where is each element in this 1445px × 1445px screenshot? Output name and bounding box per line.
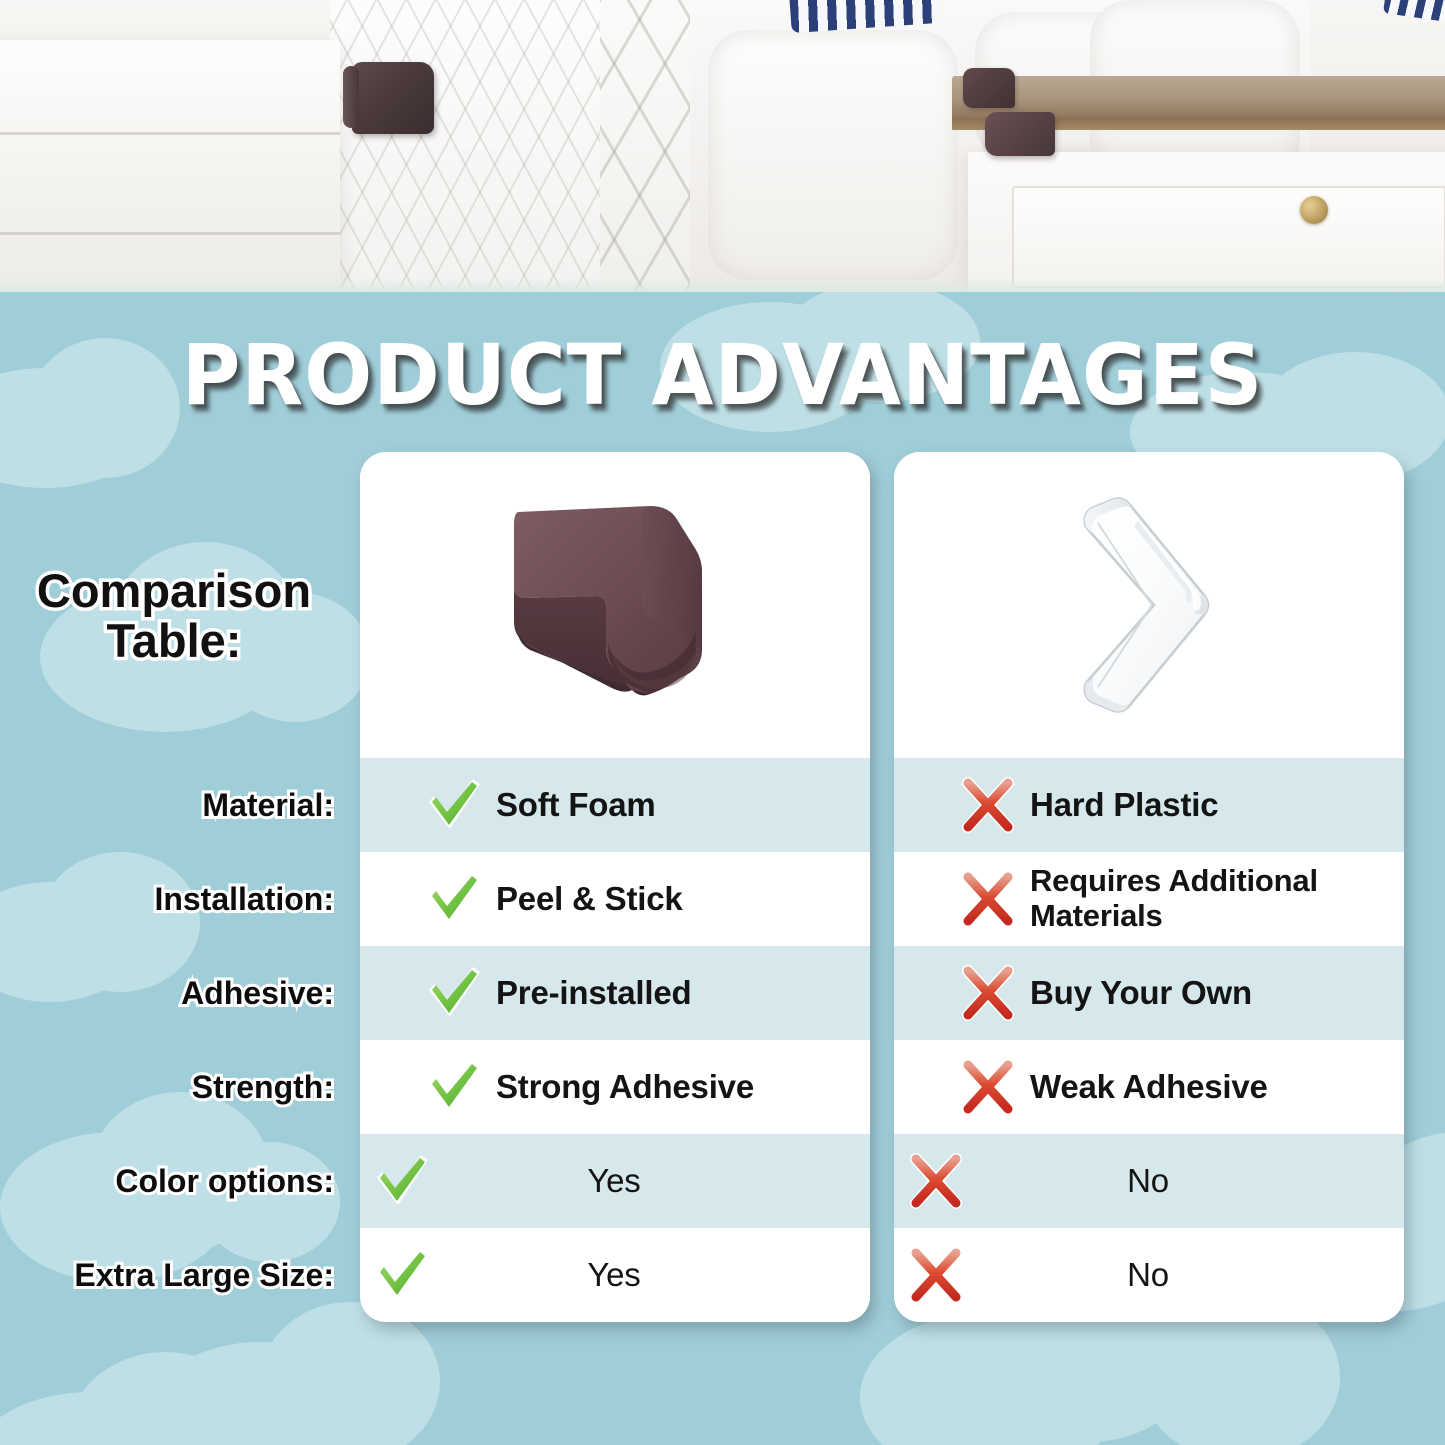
page-title: PRODUCT ADVANTAGES: [0, 326, 1445, 424]
feature-text: No: [978, 1163, 1404, 1200]
check-icon: [412, 774, 496, 836]
feature-text: Hard Plastic: [1030, 787, 1218, 824]
check-icon: [412, 962, 496, 1024]
feature-row: Buy Your Own: [894, 946, 1404, 1040]
feature-text: Soft Foam: [496, 787, 656, 824]
row-label-text: Installation:: [154, 881, 334, 918]
nightstand-drawer: [1012, 186, 1445, 288]
hero-photo: [0, 0, 1445, 292]
cross-icon: [946, 868, 1030, 930]
clear-plastic-corner-guard-icon: [1042, 493, 1257, 718]
row-label-installation: Installation:: [0, 852, 348, 946]
feature-row: Pre-installed: [360, 946, 870, 1040]
installed-corner-guard-left: [352, 62, 434, 134]
row-label-text: Adhesive:: [181, 975, 334, 1012]
white-dresser: [0, 40, 340, 292]
row-label-text: Material:: [202, 787, 334, 824]
feature-row: Soft Foam: [360, 758, 870, 852]
feature-row: No: [894, 1134, 1404, 1228]
row-label-strength: Strength:: [0, 1040, 348, 1134]
feature-text: Requires Additional Materials: [1030, 864, 1404, 933]
feature-row: No: [894, 1228, 1404, 1322]
feature-text: Yes: [444, 1257, 870, 1294]
feature-rows-plastic: Hard Plastic Requires Additional Materia…: [894, 758, 1404, 1322]
cross-icon: [946, 774, 1030, 836]
feature-text: Pre-installed: [496, 975, 691, 1012]
cross-icon: [894, 1244, 978, 1306]
feature-row: Requires Additional Materials: [894, 852, 1404, 946]
feature-text: Strong Adhesive: [496, 1069, 754, 1106]
feature-rows-foam: Soft Foam Peel & Stick P: [360, 758, 870, 1322]
cross-icon: [946, 1056, 1030, 1118]
row-label-adhesive: Adhesive:: [0, 946, 348, 1040]
comparison-table-heading: Comparison Table:: [0, 566, 348, 666]
infographic-root: PRODUCT ADVANTAGES Comparison Table: Mat…: [0, 0, 1445, 1445]
feature-text: Peel & Stick: [496, 881, 683, 918]
feature-text: Buy Your Own: [1030, 975, 1252, 1012]
row-label-text: Color options:: [115, 1163, 334, 1200]
patterned-textile-left: [330, 0, 630, 292]
row-label-material: Material:: [0, 758, 348, 852]
comparison-table-heading-line1: Comparison: [0, 566, 348, 616]
check-icon: [360, 1150, 444, 1212]
installed-corner-guard-upper: [963, 68, 1015, 108]
check-icon: [412, 1056, 496, 1118]
product-image-plastic: [894, 452, 1404, 758]
feature-row: Strong Adhesive: [360, 1040, 870, 1134]
row-label-text: Extra Large Size:: [74, 1257, 334, 1294]
check-icon: [412, 868, 496, 930]
feature-row: Weak Adhesive: [894, 1040, 1404, 1134]
drawer-knob: [1300, 196, 1328, 224]
installed-corner-guard-lower: [985, 112, 1055, 156]
comparison-card-foam: Soft Foam Peel & Stick P: [360, 452, 870, 1322]
row-label-extra-large-size: Extra Large Size:: [0, 1228, 348, 1322]
feature-text: No: [978, 1257, 1404, 1294]
check-icon: [360, 1244, 444, 1306]
hero-bottom-fade: [0, 278, 1445, 292]
row-label-color-options: Color options:: [0, 1134, 348, 1228]
feature-row: Yes: [360, 1228, 870, 1322]
feature-text: Weak Adhesive: [1030, 1069, 1268, 1106]
feature-text: Yes: [444, 1163, 870, 1200]
cross-icon: [894, 1150, 978, 1212]
row-label-text: Strength:: [192, 1069, 334, 1106]
comparison-table-heading-line2: Table:: [0, 616, 348, 666]
cross-icon: [946, 962, 1030, 1024]
product-image-foam: [360, 452, 870, 758]
comparison-card-plastic: Hard Plastic Requires Additional Materia…: [894, 452, 1404, 1322]
feature-row: Peel & Stick: [360, 852, 870, 946]
feature-row: Yes: [360, 1134, 870, 1228]
row-label-column: Material: Installation: Adhesive: Streng…: [0, 758, 348, 1322]
feature-row: Hard Plastic: [894, 758, 1404, 852]
brown-foam-corner-guard-icon: [500, 498, 730, 713]
